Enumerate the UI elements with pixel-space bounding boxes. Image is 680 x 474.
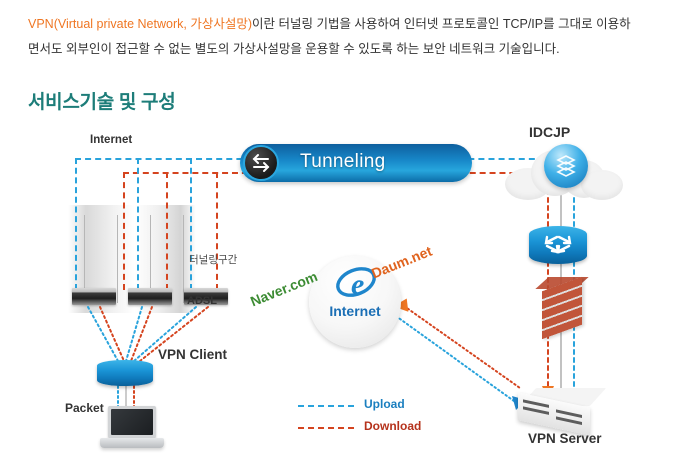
legend-label-upload: Upload <box>364 397 405 411</box>
tunneling-label: Tunneling <box>300 151 385 173</box>
vpn-client-label: VPN Client <box>158 347 227 362</box>
laptop-icon <box>100 406 164 454</box>
idcjp-label: IDCJP <box>529 124 570 140</box>
router-icon <box>529 226 587 264</box>
laptop-keyboard <box>100 438 164 448</box>
rack-server-icon <box>518 388 606 432</box>
laptop-display <box>111 409 153 435</box>
intro-paragraph: VPN(Virtual private Network, 가상사설망)이란 터널… <box>28 12 640 62</box>
svg-text:e: e <box>351 268 364 301</box>
bidirectional-arrows-icon <box>243 145 279 181</box>
packet-label: Packet <box>65 401 104 415</box>
network-diagram: Internet 터널링구간 ADSL <box>0 118 680 474</box>
vpn-client-router-icon <box>97 360 153 386</box>
legend-item-download: Download <box>298 418 428 440</box>
legend: Upload Download <box>298 396 428 440</box>
legend-label-download: Download <box>364 419 421 433</box>
section-heading: 서비스기술 및 구성 <box>28 87 175 114</box>
idcjp-switch-icon <box>544 144 588 188</box>
legend-swatch-upload <box>298 405 354 407</box>
legend-swatch-download <box>298 427 354 429</box>
intro-highlight: VPN(Virtual private Network, 가상사설망) <box>28 17 252 31</box>
vpn-server-label: VPN Server <box>528 431 602 446</box>
legend-item-upload: Upload <box>298 396 428 418</box>
internet-badge-label: Internet <box>317 303 393 319</box>
